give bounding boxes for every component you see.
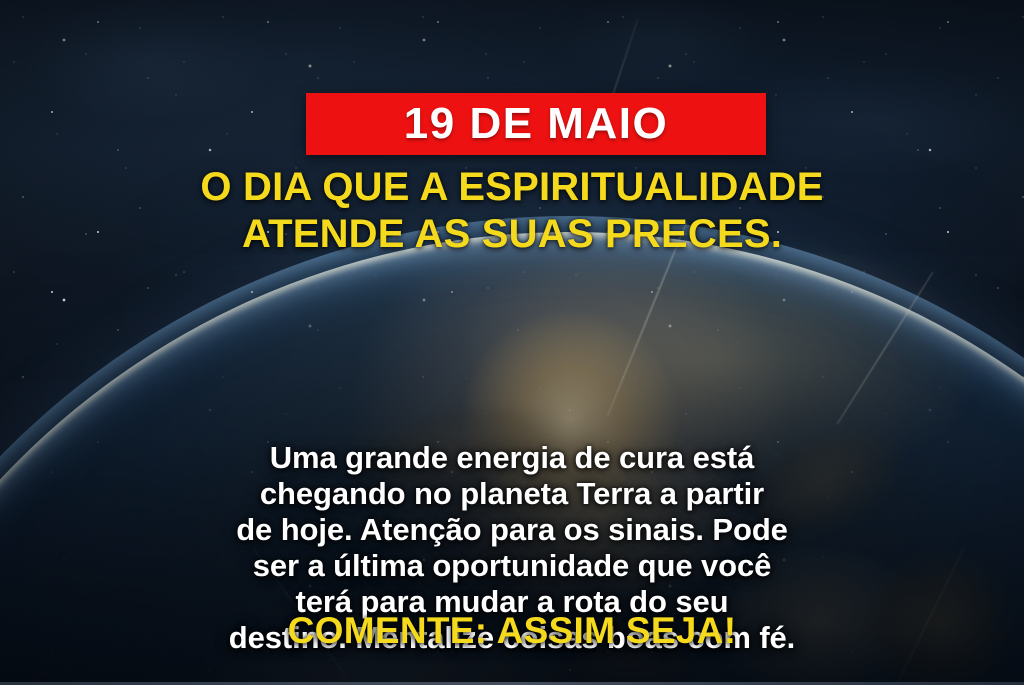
body-line-4: ser a última oportunidade que você <box>0 550 1024 581</box>
body-line-2: chegando no planeta Terra a partir <box>0 478 1024 509</box>
call-to-action-text: COMENTE: ASSIM SEJA! <box>0 612 1024 649</box>
social-poster: 19 DE MAIO O DIA QUE A ESPIRITUALIDADE A… <box>0 0 1024 685</box>
body-line-1: Uma grande energia de cura está <box>0 442 1024 473</box>
headline: O DIA QUE A ESPIRITUALIDADE ATENDE AS SU… <box>0 167 1024 254</box>
headline-line-1: O DIA QUE A ESPIRITUALIDADE <box>0 167 1024 207</box>
date-banner: 19 DE MAIO <box>306 93 766 155</box>
date-banner-label: 19 DE MAIO <box>404 102 668 146</box>
body-line-3: de hoje. Atenção para os sinais. Pode <box>0 514 1024 545</box>
headline-line-2: ATENDE AS SUAS PRECES. <box>0 214 1024 254</box>
poster-content: 19 DE MAIO O DIA QUE A ESPIRITUALIDADE A… <box>0 0 1024 685</box>
